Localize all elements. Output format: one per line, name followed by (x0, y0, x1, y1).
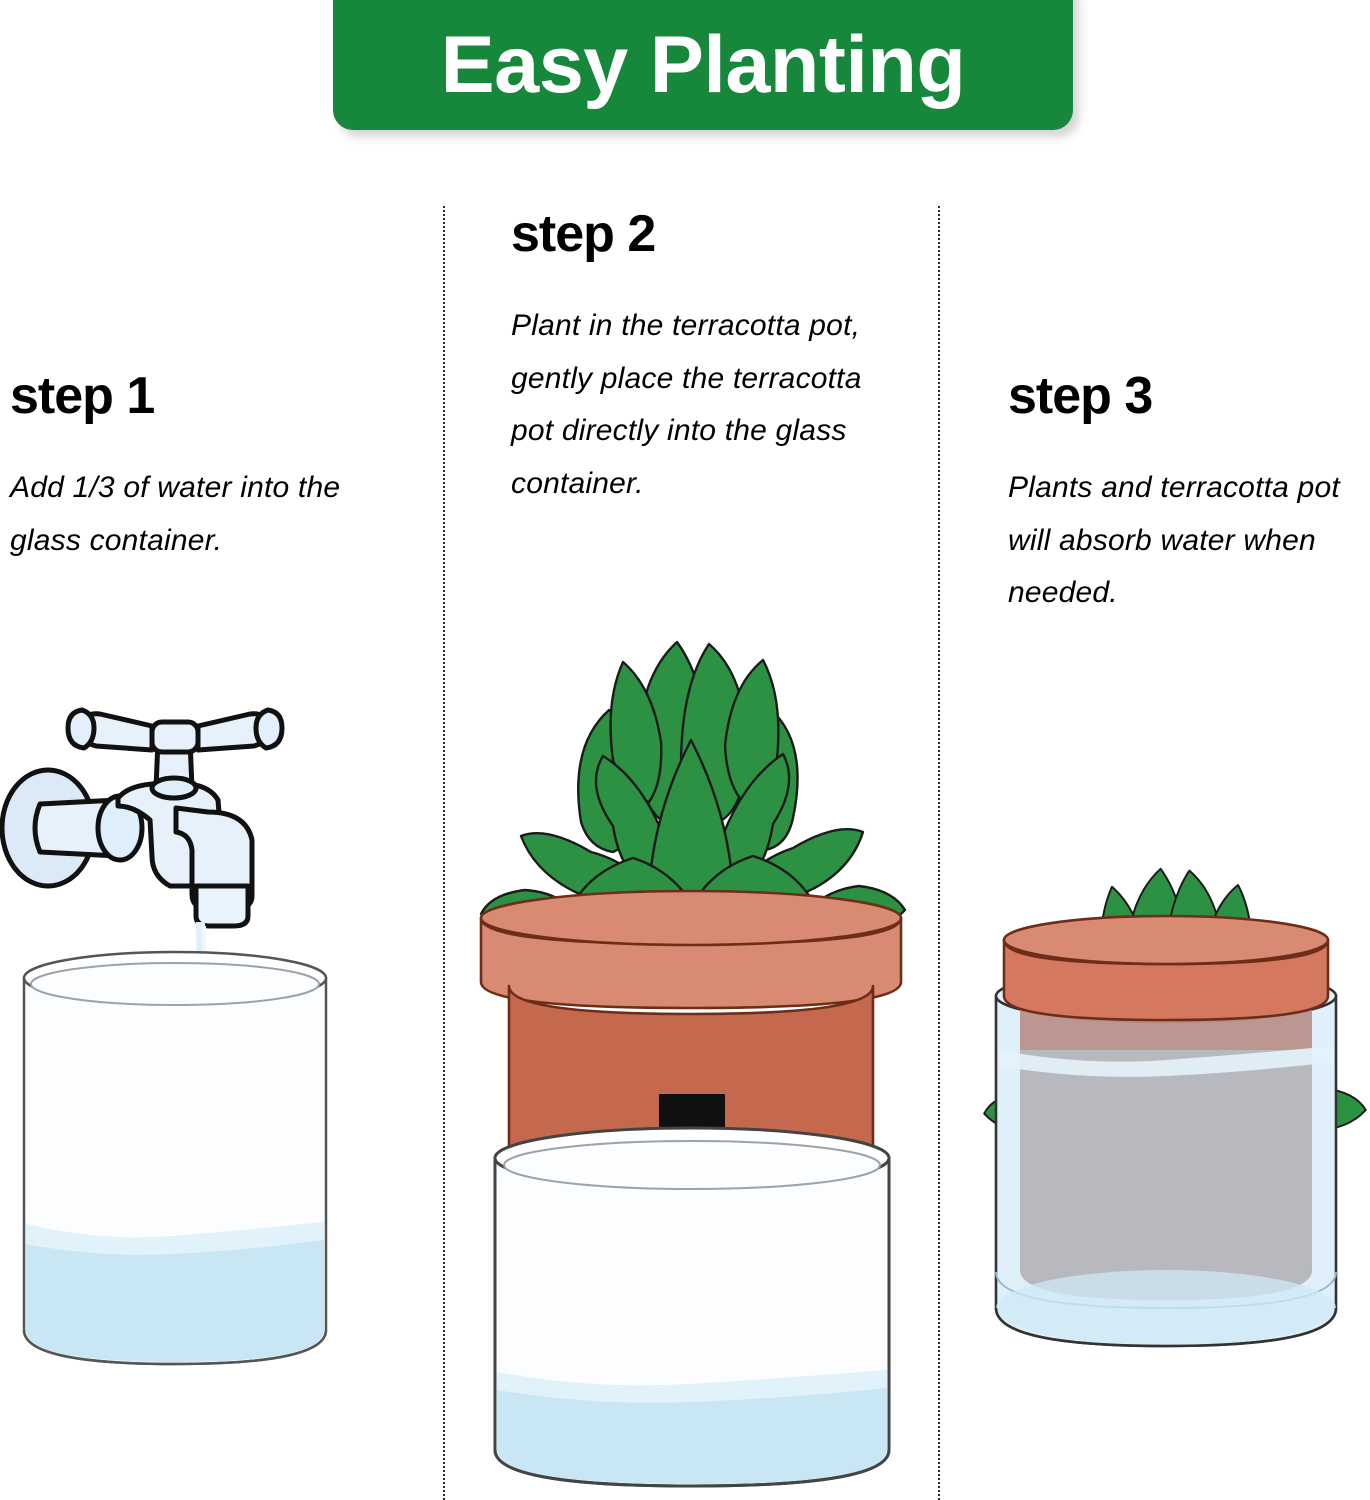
step-1-column: step 1 Add 1/3 of water into the glass c… (0, 0, 443, 1500)
infographic-canvas: Easy Planting step 1 Add 1/3 of water in… (0, 0, 1370, 1500)
submerged-terracotta-pot (1020, 998, 1312, 1300)
step-2-illustration (463, 590, 923, 1500)
glass-container (495, 1128, 889, 1486)
step-2-heading: step 2 (511, 208, 655, 260)
step-3-body-text: Plants and terracotta pot will absorb wa… (1008, 462, 1360, 620)
glass-container (24, 952, 326, 1364)
step-1-illustration (0, 700, 443, 1500)
faucet-icon (2, 710, 282, 926)
step-2-body-text: Plant in the terracotta pot, gently plac… (511, 300, 871, 510)
step-2-column: step 2 Plant in the terracotta pot, gent… (443, 0, 938, 1500)
terracotta-pot-rim (1004, 916, 1328, 1020)
step-3-illustration (976, 800, 1370, 1400)
step-3-heading: step 3 (1008, 370, 1152, 422)
step-3-column: step 3 Plants and terracotta pot will ab… (938, 0, 1370, 1500)
step-1-body-text: Add 1/3 of water into the glass containe… (10, 462, 380, 567)
step-1-heading: step 1 (10, 370, 154, 422)
glass-container (996, 970, 1336, 1346)
